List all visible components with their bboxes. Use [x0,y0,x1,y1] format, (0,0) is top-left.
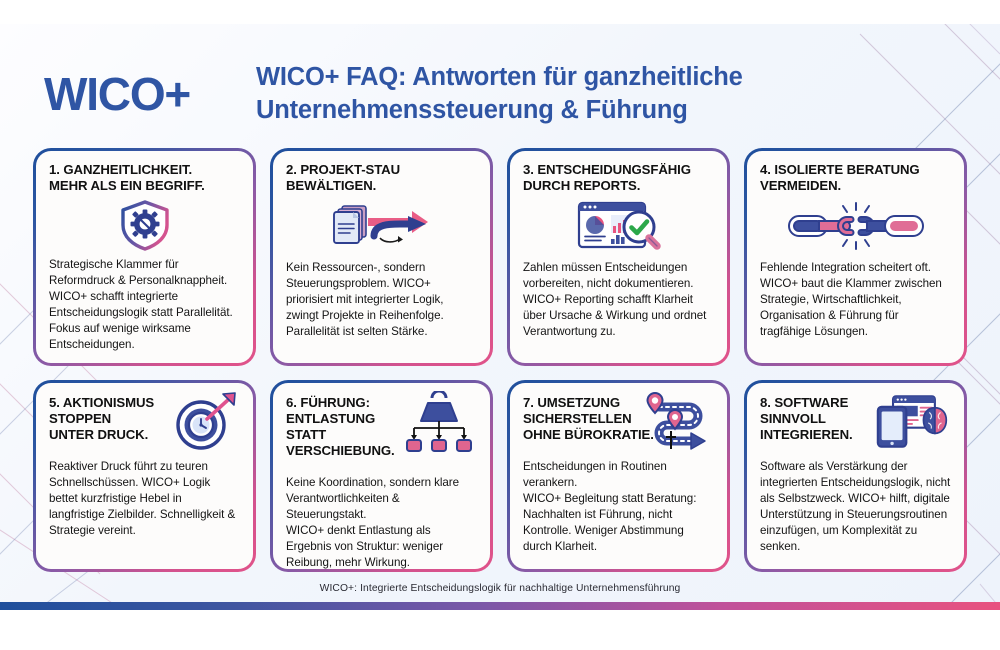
document-stack-arrow-icon [286,198,477,254]
dashboard-magnifier-check-icon [523,198,714,254]
faq-card-5[interactable]: 5. AKTIONISMUS STOPPEN UNTER DRUCK. [33,380,256,572]
footer-caption: WICO+: Integrierte Entscheidungslogik fü… [0,583,1000,594]
faq-card-3-body: Zahlen müssen Entscheidungen vorbereiten… [523,260,714,340]
faq-card-4-body: Fehlende Integration scheitert oft. WICO… [760,260,951,340]
infographic-canvas: WICO+ WICO+ FAQ: Antworten für ganzheitl… [0,0,1000,650]
faq-card-5-body: Reaktiver Druck führt zu teuren Schnells… [49,459,240,539]
faq-card-2-body: Kein Ressourcen-, sondern Steuerungsprob… [286,260,477,340]
faq-card-2[interactable]: 2. PROJEKT-STAU BEWÄLTIGEN. [270,148,493,366]
brand-logo: WICO+ [44,71,256,117]
faq-card-5-title: 5. AKTIONISMUS STOPPEN UNTER DRUCK. [49,395,197,443]
shield-gear-icon [49,198,240,251]
faq-card-4-title: 4. ISOLIERTE BERATUNG VERMEIDEN. [760,162,951,194]
faq-card-7-body: Entscheidungen in Routinen verankern. WI… [523,459,714,555]
faq-card-3[interactable]: 3. ENTSCHEIDUNGSFÄHIG DURCH REPORTS. [507,148,730,366]
faq-card-3-title: 3. ENTSCHEIDUNGSFÄHIG DURCH REPORTS. [523,162,714,194]
faq-card-4[interactable]: 4. ISOLIERTE BERATUNG VERMEIDEN. [744,148,967,366]
faq-card-8[interactable]: 8. SOFTWARE SINNVOLL INTEGRIEREN. [744,380,967,572]
faq-card-1[interactable]: 1. GANZHEITLICHKEIT. MEHR ALS EIN BEGRIF… [33,148,256,366]
faq-card-8-title: 8. SOFTWARE SINNVOLL INTEGRIEREN. [760,395,908,443]
faq-card-7-title: 7. UMSETZUNG SICHERSTELLEN OHNE BÜROKRAT… [523,395,671,443]
page-title: WICO+ FAQ: Antworten für ganzheitliche U… [256,61,956,127]
bottom-accent-bar [0,602,1000,610]
faq-card-7[interactable]: 7. UMSETZUNG SICHERSTELLEN OHNE BÜROKRAT… [507,380,730,572]
faq-card-6[interactable]: 6. FÜHRUNG: ENTLASTUNG STATT VERSCHIEBUN… [270,380,493,572]
faq-card-6-body: Keine Koordination, sondern klare Verant… [286,475,477,569]
faq-card-6-title: 6. FÜHRUNG: ENTLASTUNG STATT VERSCHIEBUN… [286,395,434,459]
faq-card-8-body: Software als Verstärkung der integrierte… [760,459,951,555]
faq-card-1-body: Strategische Klammer für Reformdruck & P… [49,257,240,353]
faq-card-1-title: 1. GANZHEITLICHKEIT. MEHR ALS EIN BEGRIF… [49,162,240,194]
faq-card-2-title: 2. PROJEKT-STAU BEWÄLTIGEN. [286,162,477,194]
header: WICO+ WICO+ FAQ: Antworten für ganzheitl… [0,48,1000,140]
broken-chain-icon [760,198,951,254]
faq-card-grid: 1. GANZHEITLICHKEIT. MEHR ALS EIN BEGRIF… [33,148,967,572]
